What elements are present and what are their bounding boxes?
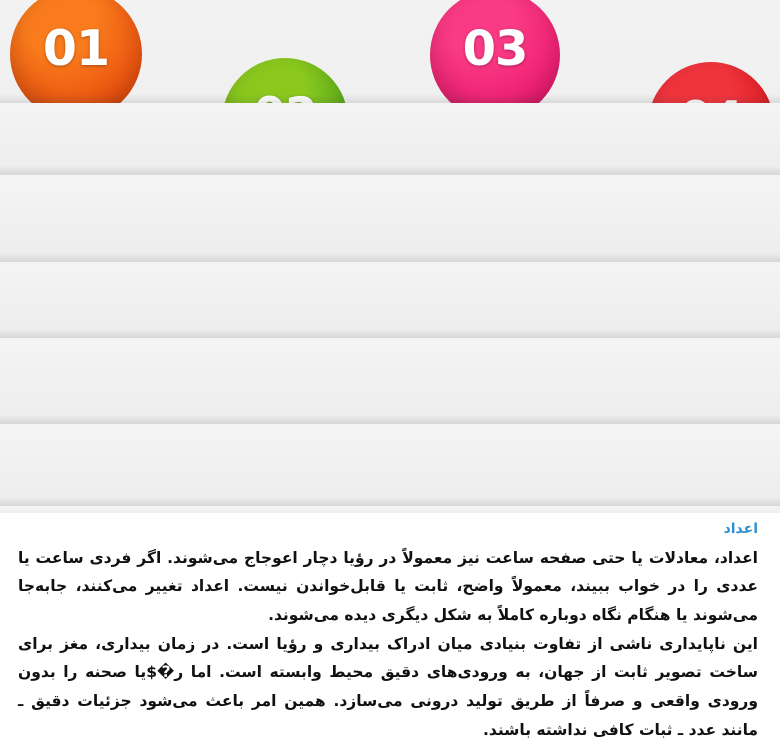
numbers-illustration: 010203040506070809101112 (0, 0, 780, 513)
shelf-band-2 (0, 175, 780, 262)
shelf-band-5 (0, 424, 780, 506)
article-heading: اعداد (18, 521, 758, 538)
article-paragraph-2: این ناپایداری ناشی از تفاوت بنیادی میان … (18, 630, 758, 745)
shelf-band-6 (0, 506, 780, 513)
article-paragraph-1: اعداد، معادلات یا حتی صفحه ساعت نیز معمو… (18, 544, 758, 630)
shelf-band-3 (0, 262, 780, 338)
shelf-band-4 (0, 338, 780, 424)
article-body: اعداد اعداد، معادلات یا حتی صفحه ساعت نی… (0, 513, 780, 741)
shelf-band-1 (0, 103, 780, 175)
